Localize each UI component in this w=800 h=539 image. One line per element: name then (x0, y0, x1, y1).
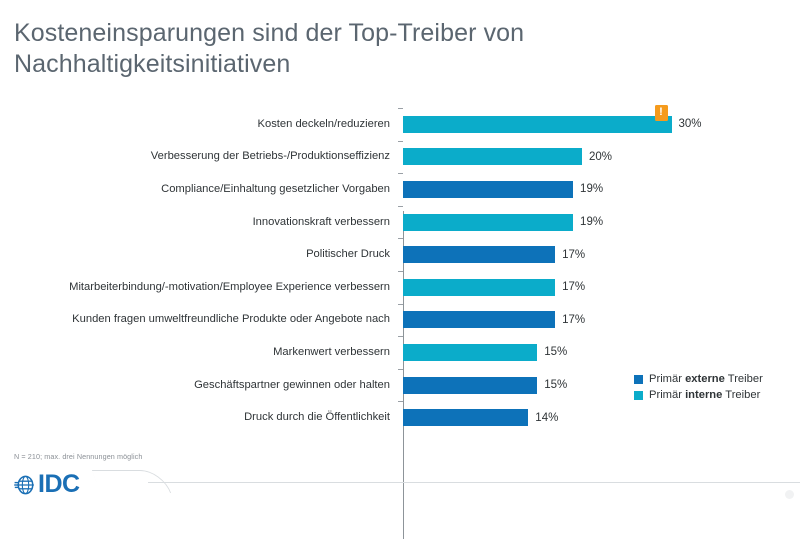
bar-row: Compliance/Einhaltung gesetzlicher Vorga… (0, 173, 800, 206)
idc-globe-icon (14, 474, 36, 496)
bar-category-label: Druck durch die Öffentlichkeit (0, 411, 390, 424)
legend-swatch-internal-icon (634, 391, 643, 400)
legend-label-external: Primär externe Treiber (649, 373, 763, 385)
bar-track: 15% (403, 369, 567, 402)
bar-category-label: Compliance/Einhaltung gesetzlicher Vorga… (0, 183, 390, 196)
legend-label-internal: Primär interne Treiber (649, 389, 760, 401)
bar-internal[interactable]: ! (403, 116, 672, 133)
chart-footnote: N = 210; max. drei Nennungen möglich (14, 452, 142, 461)
bar-external[interactable] (403, 409, 528, 426)
bar-row: Verbesserung der Betriebs-/Produktionsef… (0, 141, 800, 174)
bar-row: Innovationskraft verbessern19% (0, 206, 800, 239)
legend-item-internal[interactable]: Primär interne Treiber (634, 387, 763, 403)
bar-internal[interactable] (403, 344, 537, 361)
bar-external[interactable] (403, 181, 573, 198)
bar-row: Kunden fragen umweltfreundliche Produkte… (0, 304, 800, 337)
page-title: Kosteneinsparungen sind der Top-Treiber … (14, 18, 714, 80)
bar-row: Druck durch die Öffentlichkeit14% (0, 401, 800, 434)
footer-swoosh-decoration (92, 470, 171, 493)
bar-track: 17% (403, 304, 585, 337)
bar-internal[interactable] (403, 214, 573, 231)
legend-item-external[interactable]: Primär externe Treiber (634, 371, 763, 387)
bar-row: Kosten deckeln/reduzieren!30% (0, 108, 800, 141)
bar-track: !30% (403, 108, 702, 141)
idc-wordmark: IDC (38, 472, 80, 497)
bar-track: 20% (403, 141, 612, 174)
bar-category-label: Mitarbeiterbindung/-motivation/Employee … (0, 281, 390, 294)
bar-category-label: Verbesserung der Betriebs-/Produktionsef… (0, 150, 390, 163)
chart-legend: Primär externe Treiber Primär interne Tr… (634, 371, 763, 403)
bar-category-label: Kunden fragen umweltfreundliche Produkte… (0, 313, 390, 326)
bar-track: 15% (403, 336, 567, 369)
footer-corner-mark (785, 490, 794, 499)
bar-internal[interactable] (403, 279, 555, 296)
bar-internal[interactable] (403, 148, 582, 165)
bar-external[interactable] (403, 246, 555, 263)
bar-value-label: 19% (580, 216, 603, 228)
bar-value-label: 17% (562, 314, 585, 326)
slide-footer: IDC (0, 470, 800, 506)
footer-divider (148, 482, 800, 483)
bar-track: 17% (403, 271, 585, 304)
bar-value-label: 14% (535, 412, 558, 424)
bar-category-label: Politischer Druck (0, 248, 390, 261)
bar-category-label: Markenwert verbessern (0, 346, 390, 359)
bar-value-label: 30% (679, 118, 702, 130)
bar-value-label: 17% (562, 281, 585, 293)
bar-value-label: 17% (562, 249, 585, 261)
bar-row: Mitarbeiterbindung/-motivation/Employee … (0, 271, 800, 304)
bar-category-label: Kosten deckeln/reduzieren (0, 118, 390, 131)
bar-track: 14% (403, 401, 558, 434)
bar-row: Markenwert verbessern15% (0, 336, 800, 369)
bar-value-label: 15% (544, 346, 567, 358)
exclamation-marker-icon[interactable]: ! (655, 105, 668, 121)
bar-track: 19% (403, 173, 603, 206)
bar-external[interactable] (403, 377, 537, 394)
bar-row: Politischer Druck17% (0, 238, 800, 271)
legend-swatch-external-icon (634, 375, 643, 384)
bar-category-label: Innovationskraft verbessern (0, 216, 390, 229)
bar-value-label: 19% (580, 183, 603, 195)
idc-logo: IDC (14, 472, 80, 497)
bar-value-label: 20% (589, 151, 612, 163)
bar-category-label: Geschäftspartner gewinnen oder halten (0, 379, 390, 392)
bar-external[interactable] (403, 311, 555, 328)
bar-track: 19% (403, 206, 603, 239)
alert-glyph: ! (659, 106, 663, 119)
bar-track: 17% (403, 238, 585, 271)
bar-value-label: 15% (544, 379, 567, 391)
